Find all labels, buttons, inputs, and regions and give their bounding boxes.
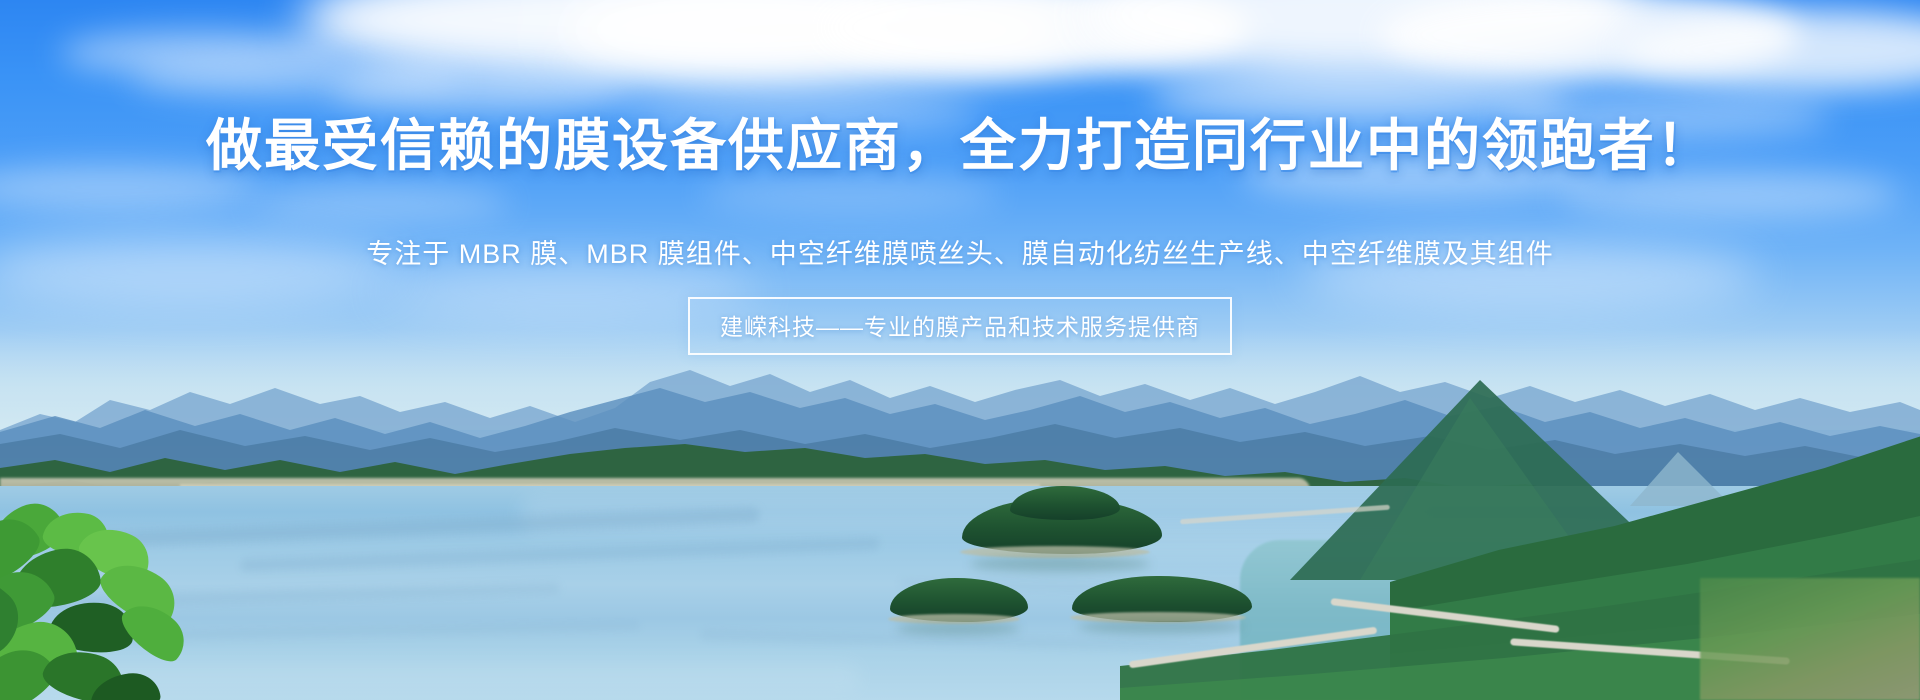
banner-headline: 做最受信赖的膜设备供应商，全力打造同行业中的领跑者！ [0, 118, 1920, 174]
banner-tagline-wrapper: 建嵘科技——专业的膜产品和技术服务提供商 [0, 297, 1920, 355]
foreground-tree-branch [0, 506, 260, 700]
banner-tagline-box: 建嵘科技——专业的膜产品和技术服务提供商 [688, 297, 1232, 355]
hero-banner: 做最受信赖的膜设备供应商，全力打造同行业中的领跑者！ 专注于 MBR 膜、MBR… [0, 0, 1920, 700]
banner-copy: 做最受信赖的膜设备供应商，全力打造同行业中的领跑者！ 专注于 MBR 膜、MBR… [0, 0, 1920, 430]
right-terraces [1700, 578, 1920, 700]
banner-subtitle: 专注于 MBR 膜、MBR 膜组件、中空纤维膜喷丝头、膜自动化纺丝生产线、中空纤… [0, 232, 1920, 271]
mountain-right-slope [1120, 430, 1680, 700]
